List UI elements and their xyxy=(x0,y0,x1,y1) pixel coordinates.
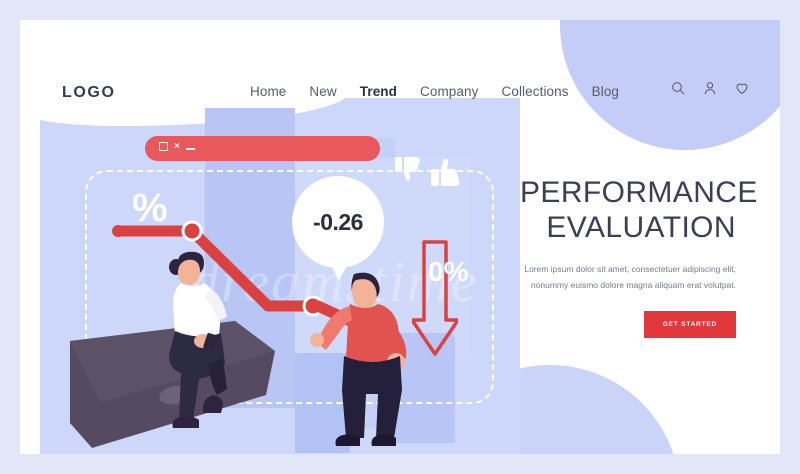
nav-item-trend[interactable]: Trend xyxy=(360,84,397,99)
nav-item-home[interactable]: Home xyxy=(250,84,286,99)
site-header: LOGO Home New Trend Company Collections … xyxy=(20,20,780,130)
user-icon[interactable] xyxy=(702,80,720,98)
header-icon-group xyxy=(670,80,752,98)
page-title: PERFORMANCE EVALUATION xyxy=(520,175,736,246)
search-icon[interactable] xyxy=(670,80,688,98)
zero-percent-label: 0% xyxy=(428,258,468,286)
heart-icon[interactable] xyxy=(734,80,752,98)
page-title-line-1: PERFORMANCE xyxy=(520,176,758,209)
reaction-icons xyxy=(395,156,461,188)
value-speech-bubble: -0.26 xyxy=(292,176,384,268)
nav-item-collections[interactable]: Collections xyxy=(501,84,568,99)
nav-item-company[interactable]: Company xyxy=(420,84,478,99)
thumbs-down-icon[interactable] xyxy=(395,156,421,186)
speech-bubble-value: -0.26 xyxy=(313,209,363,236)
seated-woman-character xyxy=(135,238,245,438)
brand-logo[interactable]: LOGO xyxy=(62,84,116,102)
hero-text-block: PERFORMANCE EVALUATION Lorem ipsum dolor… xyxy=(520,175,736,338)
thumbs-up-icon[interactable] xyxy=(431,156,461,188)
get-started-button[interactable]: GET STARTED xyxy=(644,311,736,338)
standing-man-character xyxy=(310,270,420,454)
hero-description: Lorem ipsum dolor sit amet, consectetuer… xyxy=(520,262,736,293)
landing-page-card: LOGO Home New Trend Company Collections … xyxy=(20,20,780,454)
nav-item-blog[interactable]: Blog xyxy=(592,84,619,99)
page-title-line-2: EVALUATION xyxy=(546,211,736,244)
hero-illustration: dreamstime × % -0.26 xyxy=(40,98,520,454)
nav-item-new[interactable]: New xyxy=(309,84,336,99)
main-navigation: Home New Trend Company Collections Blog xyxy=(250,84,619,99)
